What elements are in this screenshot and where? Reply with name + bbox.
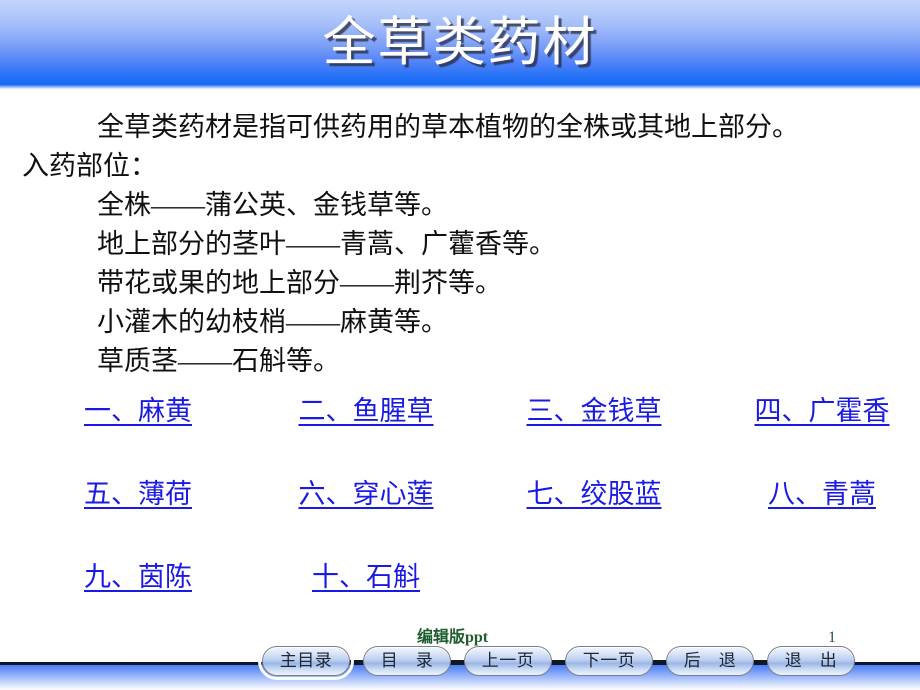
toc-cell: 二、鱼腥草: [252, 392, 480, 475]
body-text-line: 全草类药材是指可供药用的草本植物的全株或其地上部分。: [22, 108, 902, 147]
toc-cell: 八、青蒿: [708, 475, 920, 558]
toc-cell: [708, 558, 920, 641]
toc-cell: 一、麻黄: [24, 392, 252, 475]
toc-link-grid: 一、麻黄二、鱼腥草三、金钱草四、广霍香五、薄荷六、穿心莲七、绞股蓝八、青蒿九、茵…: [24, 392, 904, 641]
toc-link[interactable]: 九、茵陈: [84, 558, 192, 596]
toc-link[interactable]: 三、金钱草: [527, 392, 662, 430]
toc-cell: 六、穿心莲: [252, 475, 480, 558]
toc-link[interactable]: 一、麻黄: [84, 392, 192, 430]
body-text-line: 入药部位：: [22, 147, 902, 186]
nav-button-exit[interactable]: 退 出: [767, 646, 855, 676]
nav-button-go-back[interactable]: 后 退: [666, 646, 754, 676]
body-text-line: 地上部分的茎叶——青蒿、广藿香等。: [22, 225, 902, 264]
toc-link[interactable]: 六、穿心莲: [299, 475, 434, 513]
nav-connector-line: [350, 660, 363, 663]
watermark-label: 编辑版ppt: [417, 629, 488, 647]
nav-button-label: 后 退: [684, 652, 737, 670]
body-text-line: 小灌木的幼枝梢——麻黄等。: [22, 303, 902, 342]
toc-link[interactable]: 四、广霍香: [755, 392, 890, 430]
nav-connector-line: [653, 660, 666, 663]
presentation-slide: 全草类药材 全草类药材是指可供药用的草本植物的全株或其地上部分。入药部位：全株—…: [0, 0, 920, 690]
toc-cell: 五、薄荷: [24, 475, 252, 558]
nav-button-next-page[interactable]: 下一页: [565, 646, 653, 676]
nav-button-label: 目 录: [381, 652, 434, 670]
nav-button-label: 上一页: [482, 652, 535, 670]
navigation-bar: 主目录目 录上一页下一页后 退退 出: [262, 646, 855, 676]
nav-button-label: 主目录: [280, 652, 333, 670]
page-title: 全草类药材: [0, 8, 920, 78]
body-text-line: 全株——蒲公英、金钱草等。: [22, 186, 902, 225]
nav-button-previous-page[interactable]: 上一页: [464, 646, 552, 676]
toc-link[interactable]: 五、薄荷: [84, 475, 192, 513]
toc-cell: [480, 558, 708, 641]
nav-button-label: 退 出: [785, 652, 838, 670]
toc-cell: 九、茵陈: [24, 558, 252, 641]
title-banner-underline: [0, 85, 920, 89]
page-number: 1: [828, 629, 836, 647]
body-text-line: 带花或果的地上部分——荆芥等。: [22, 264, 902, 303]
toc-link[interactable]: 八、青蒿: [768, 475, 876, 513]
nav-connector-line: [754, 660, 767, 663]
body-text-block: 全草类药材是指可供药用的草本植物的全株或其地上部分。入药部位：全株——蒲公英、金…: [22, 108, 902, 381]
nav-button-label: 下一页: [583, 652, 636, 670]
nav-connector-line: [451, 660, 464, 663]
body-text-line: 草质茎——石斛等。: [22, 342, 902, 381]
nav-connector-line: [552, 660, 565, 663]
toc-link[interactable]: 二、鱼腥草: [299, 392, 434, 430]
toc-cell: 四、广霍香: [708, 392, 920, 475]
toc-link[interactable]: 十、石斛: [312, 558, 420, 596]
nav-button-main-menu[interactable]: 主目录: [262, 646, 350, 676]
toc-link[interactable]: 七、绞股蓝: [527, 475, 662, 513]
toc-link-row: 一、麻黄二、鱼腥草三、金钱草四、广霍香: [24, 392, 904, 475]
toc-cell: 三、金钱草: [480, 392, 708, 475]
nav-button-contents[interactable]: 目 录: [363, 646, 451, 676]
toc-cell: 七、绞股蓝: [480, 475, 708, 558]
toc-link-row: 五、薄荷六、穿心莲七、绞股蓝八、青蒿: [24, 475, 904, 558]
